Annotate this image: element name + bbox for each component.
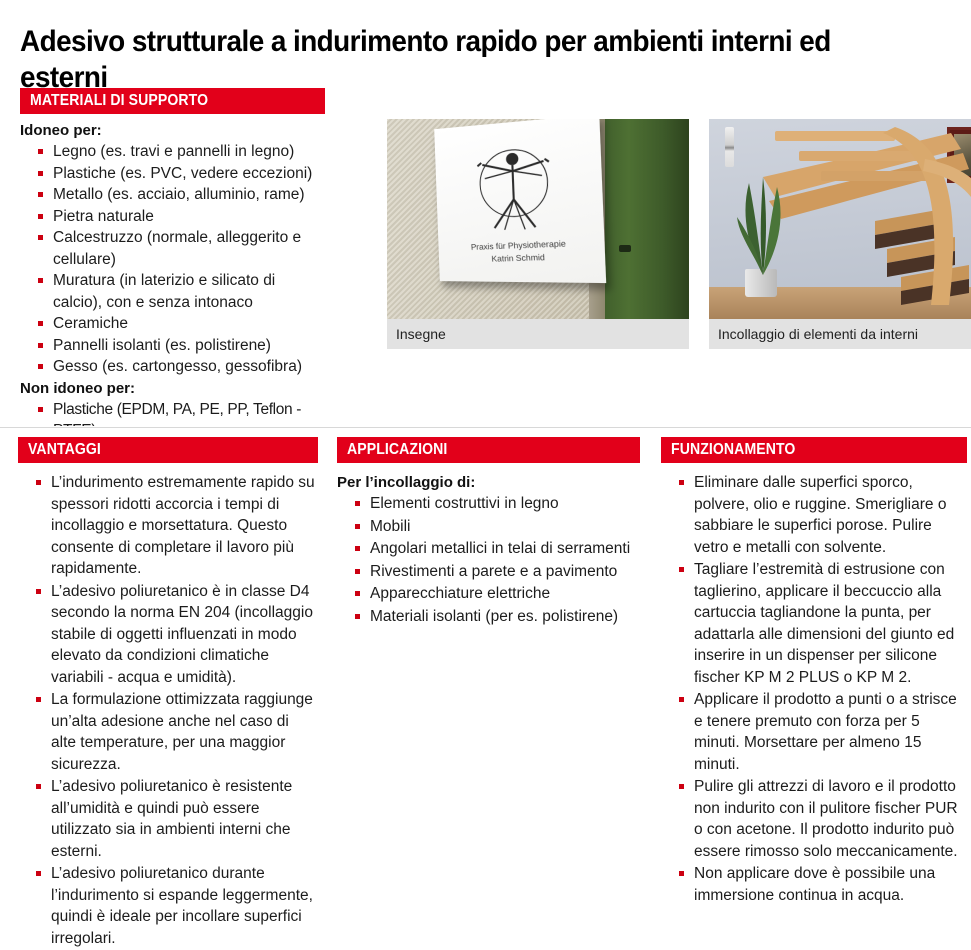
wall-sign: Praxis für Physiotherapie Katrin Schmid [434, 119, 606, 283]
list-item: Metallo (es. acciaio, alluminio, rame) [38, 184, 325, 206]
list-item: Calcestruzzo (normale, alleggerito e cel… [38, 227, 325, 270]
list-item: Plastiche (es. PVC, vedere eccezioni) [38, 163, 325, 185]
section-banner-vantaggi: VANTAGGI [18, 437, 318, 463]
list-item: Muratura (in laterizio e silicato di cal… [38, 270, 325, 313]
section-banner-label: VANTAGGI [28, 437, 101, 463]
list-item: Eliminare dalle superfici sporco, polver… [679, 472, 967, 558]
section-applicazioni: APPLICAZIONI Per l’incollaggio di: Eleme… [337, 437, 640, 628]
section-banner-applicazioni: APPLICAZIONI [337, 437, 640, 463]
section-materiali-di-supporto: MATERIALI DI SUPPORTO Idoneo per: Legno … [20, 88, 325, 426]
materiali-body: Idoneo per: Legno (es. travi e pannelli … [20, 114, 325, 426]
list-item: Tagliare l’estremità di estrusione con t… [679, 559, 967, 688]
wall-lamp-icon [725, 127, 734, 167]
list-item: Mobili [355, 516, 640, 538]
section-vantaggi: VANTAGGI L’indurimento estremamente rapi… [18, 437, 318, 950]
list-item: L’adesivo poliuretanico durante l’induri… [36, 863, 318, 949]
sign-text: Praxis für Physiotherapie Katrin Schmid [438, 236, 606, 267]
door-handle-icon [619, 245, 631, 252]
list-item: Gesso (es. cartongesso, gessofibra) [38, 356, 325, 378]
list-item: Pietra naturale [38, 206, 325, 228]
list-item: Plastiche (EPDM, PA, PE, PP, Teflon - PT… [38, 399, 325, 427]
figure-insegne: Praxis für Physiotherapie Katrin Schmid … [387, 119, 689, 349]
applicazioni-list: Elementi costruttivi in legno Mobili Ang… [337, 493, 640, 627]
figure-incollaggio-interni: Incollaggio di elementi da interni [709, 119, 971, 349]
idoneo-per-heading: Idoneo per: [20, 120, 325, 141]
list-item: Angolari metallici in telai di serrament… [355, 538, 640, 560]
list-item: Applicare il prodotto a punti o a strisc… [679, 689, 967, 775]
section-banner-label: FUNZIONAMENTO [671, 437, 795, 463]
list-item: Legno (es. travi e pannelli in legno) [38, 141, 325, 163]
section-banner-funzionamento: FUNZIONAMENTO [661, 437, 967, 463]
funzionamento-body: Eliminare dalle superfici sporco, polver… [661, 463, 967, 906]
list-item: Ceramiche [38, 313, 325, 335]
list-item: L’indurimento estremamente rapido su spe… [36, 472, 318, 580]
list-item: La formulazione ottimizzata raggiunge un… [36, 689, 318, 775]
applicazioni-body: Per l’incollaggio di: Elementi costrutti… [337, 463, 640, 627]
section-banner-label: APPLICAZIONI [347, 437, 447, 463]
section-funzionamento: FUNZIONAMENTO Eliminare dalle superfici … [661, 437, 967, 907]
list-item: L’adesivo poliuretanico è in classe D4 s… [36, 581, 318, 689]
list-item: Rivestimenti a parete e a pavimento [355, 561, 640, 583]
green-door [605, 119, 689, 319]
list-item: Apparecchiature elettriche [355, 583, 640, 605]
photo-scala-legno [709, 119, 971, 319]
applicazioni-heading: Per l’incollaggio di: [337, 472, 640, 493]
non-idoneo-per-heading: Non idoneo per: [20, 378, 325, 399]
page-title: Adesivo strutturale a indurimento rapido… [20, 24, 890, 96]
list-item: Elementi costruttivi in legno [355, 493, 640, 515]
list-item: L’adesivo poliuretanico è resistente all… [36, 776, 318, 862]
section-banner-materiali: MATERIALI DI SUPPORTO [20, 88, 325, 114]
vitruvian-man-icon [462, 133, 568, 239]
list-item: Pulire gli attrezzi di lavoro e il prodo… [679, 776, 967, 862]
list-item: Non applicare dove è possibile una immer… [679, 863, 967, 906]
non-idoneo-per-list: Plastiche (EPDM, PA, PE, PP, Teflon - PT… [20, 399, 325, 427]
vantaggi-body: L’indurimento estremamente rapido su spe… [18, 463, 318, 949]
funzionamento-list: Eliminare dalle superfici sporco, polver… [661, 472, 967, 906]
idoneo-per-list: Legno (es. travi e pannelli in legno) Pl… [20, 141, 325, 378]
photo-insegna: Praxis für Physiotherapie Katrin Schmid [387, 119, 689, 319]
section-divider [0, 427, 971, 428]
figure-caption: Insegne [387, 319, 689, 349]
list-item: Pannelli isolanti (es. polistirene) [38, 335, 325, 357]
vantaggi-list: L’indurimento estremamente rapido su spe… [18, 472, 318, 949]
figure-caption: Incollaggio di elementi da interni [709, 319, 971, 349]
plant-icon [735, 165, 791, 275]
list-item: Materiali isolanti (per es. polistirene) [355, 606, 640, 628]
section-banner-label: MATERIALI DI SUPPORTO [30, 88, 208, 114]
